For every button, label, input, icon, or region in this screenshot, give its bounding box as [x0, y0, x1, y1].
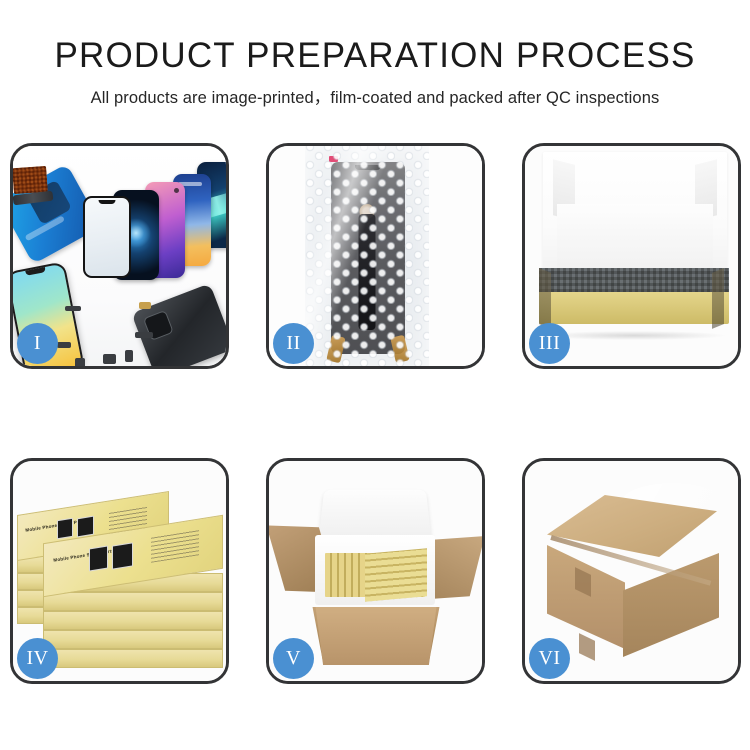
process-step-grid: I II — [10, 143, 741, 684]
step-panel-2: II — [266, 143, 485, 369]
small-part-c — [75, 358, 85, 366]
step-badge-2: II — [273, 323, 314, 364]
step-panel-6: VI — [522, 458, 741, 684]
small-part-g — [135, 332, 153, 338]
step-badge-5: V — [273, 638, 314, 679]
bubble-wrap-padding — [539, 268, 729, 292]
small-part-d — [103, 354, 116, 364]
packed-boxes-stack — [365, 548, 427, 601]
step-badge-1: I — [17, 323, 58, 364]
small-part-e — [125, 350, 133, 362]
box-thumbnail-front-2 — [112, 542, 133, 569]
retail-box-R5 — [43, 649, 223, 668]
product-preparation-infographic: PRODUCT PREPARATION PROCESS All products… — [0, 0, 750, 750]
retail-box-R3 — [43, 611, 223, 630]
box-thumbnail-upper-2 — [77, 516, 94, 538]
step-panel-3: III — [522, 143, 741, 369]
retail-box-R2 — [43, 592, 223, 611]
tray-edge-right — [712, 268, 724, 329]
white-box-lid — [543, 152, 727, 276]
page-subtitle: All products are image-printed，film-coat… — [0, 84, 750, 108]
small-part-f — [57, 342, 71, 348]
step-panel-4: Mobile Phone Spare Parts Mobile Phone Sp… — [10, 458, 229, 684]
tray-edge-left — [539, 268, 551, 329]
copper-mesh-part — [13, 166, 48, 194]
step-badge-6: VI — [529, 638, 570, 679]
carton-front-panel — [313, 607, 439, 665]
step-panel-5: V — [266, 458, 485, 684]
bubble-wrap-bag — [305, 146, 429, 366]
box-thumbnail-upper-1 — [57, 518, 73, 540]
page-title: PRODUCT PREPARATION PROCESS — [0, 36, 750, 76]
plastic-sheen — [305, 146, 429, 366]
tempered-glass-protector — [83, 196, 131, 278]
step-panel-1: I — [10, 143, 229, 369]
box-thumbnail-front-1 — [89, 545, 108, 571]
lid-front-face — [557, 204, 713, 278]
retail-box-R4 — [43, 630, 223, 649]
step-badge-4: IV — [17, 638, 58, 679]
carton-tape-lower — [579, 633, 595, 661]
step-badge-3: III — [529, 323, 570, 364]
drop-shadow — [543, 331, 725, 340]
small-part-a — [65, 306, 81, 311]
small-part-b — [139, 302, 151, 309]
carton-left-face — [547, 545, 625, 649]
